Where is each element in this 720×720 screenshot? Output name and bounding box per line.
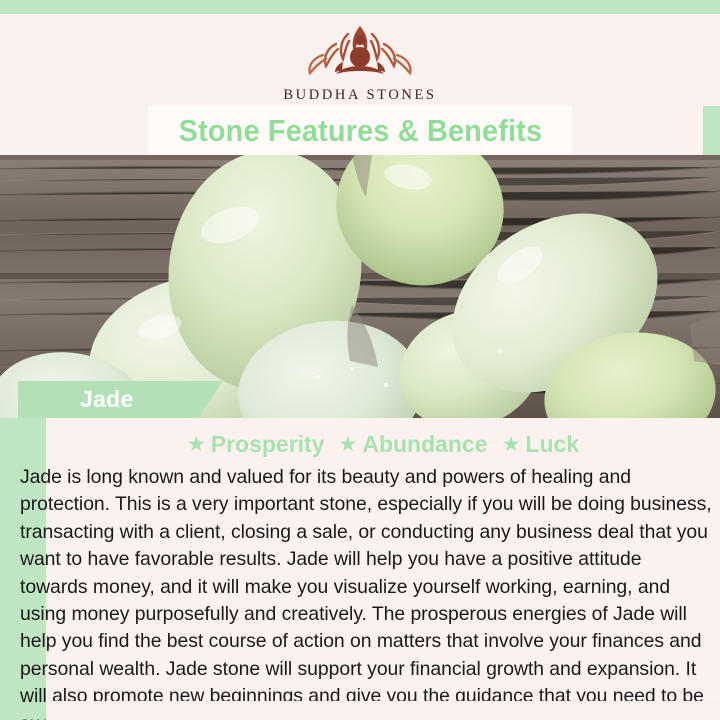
star-icon: ★	[502, 432, 521, 457]
jade-stones-image	[0, 155, 720, 418]
bottom-spacer	[46, 701, 720, 720]
infographic-page: BUDDHA STONES Stone Features & Benefits	[0, 0, 720, 720]
lotus-meditation-icon	[296, 20, 424, 86]
stone-photo	[0, 155, 720, 418]
content-panel: ★Prosperity★Abundance★Luck Jade is long …	[46, 418, 720, 701]
star-icon: ★	[339, 432, 358, 457]
page-title: Stone Features & Benefits	[178, 113, 542, 149]
brand-logo: BUDDHA STONES	[0, 20, 720, 104]
star-icon: ★	[187, 432, 206, 457]
stone-name: Jade	[80, 386, 134, 413]
keyword-row: ★Prosperity★Abundance★Luck	[46, 431, 720, 458]
keyword-prosperity: Prosperity	[211, 431, 325, 458]
green-accent-top-bar	[0, 0, 720, 14]
title-banner: Stone Features & Benefits	[148, 106, 572, 155]
brand-name: BUDDHA STONES	[0, 87, 720, 104]
brand-header: BUDDHA STONES	[0, 14, 720, 106]
keyword-abundance: Abundance	[362, 431, 487, 458]
keyword-luck: Luck	[525, 431, 579, 458]
stone-description: Jade is long known and valued for its be…	[14, 464, 720, 720]
